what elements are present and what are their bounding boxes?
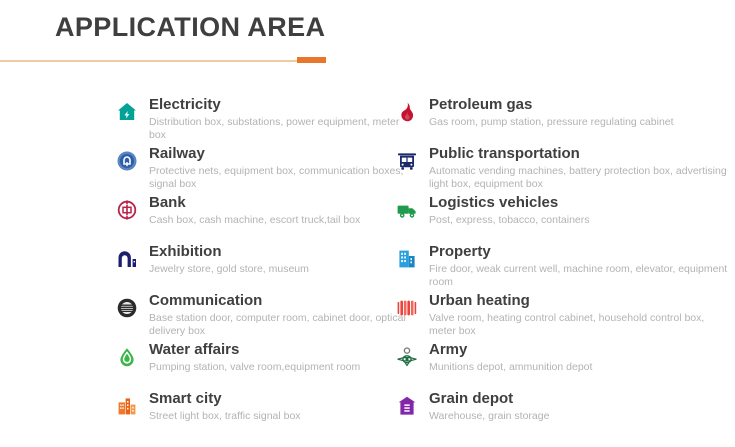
list-item-title: Property [429,243,729,260]
list-item-bank[interactable]: Bank Cash box, cash machine, escort truc… [116,194,406,243]
delivery-truck-icon [396,199,418,221]
list-item-description: Valve room, heating control cabinet, hou… [429,312,729,338]
list-item-title: Grain depot [429,390,729,407]
list-item-description: Post, express, tobacco, containers [429,214,729,227]
list-item-title: Army [429,341,729,358]
title-divider-accent [297,57,326,63]
application-area-grid: Electricity Distribution box, substation… [0,96,735,447]
title-divider-line [0,60,326,62]
list-item-smart-city[interactable]: Smart city Street light box, traffic sig… [116,390,406,439]
list-item-title: Bank [149,194,399,211]
exhibition-arch-icon [116,248,138,270]
house-lightning-icon [116,101,138,123]
list-item-title: Urban heating [429,292,729,309]
list-item-army[interactable]: Army Munitions depot, ammunition depot [396,341,735,390]
list-item-title: Petroleum gas [429,96,729,113]
list-item-title: Communication [149,292,399,309]
list-item-petroleum-gas[interactable]: Petroleum gas Gas room, pump station, pr… [396,96,735,145]
list-item-description: Distribution box, substations, power equ… [149,116,409,142]
list-item-public-transportation[interactable]: Public transportation Automatic vending … [396,145,735,194]
list-item-description: Munitions depot, ammunition depot [429,361,729,374]
list-item-title: Public transportation [429,145,729,162]
list-item-title: Smart city [149,390,399,407]
list-item-grain-depot[interactable]: Grain depot Warehouse, grain storage [396,390,735,439]
list-item-title: Railway [149,145,399,162]
bus-icon [396,150,418,172]
list-item-description: Street light box, traffic signal box [149,410,409,423]
list-item-description: Warehouse, grain storage [429,410,729,423]
water-drop-icon [116,346,138,368]
office-building-icon [396,248,418,270]
army-emblem-icon [396,346,418,368]
communication-dish-icon [116,297,138,319]
list-item-description: Jewelry store, gold store, museum [149,263,409,276]
list-item-title: Electricity [149,96,399,113]
radiator-icon [396,297,418,319]
railway-circle-icon [116,150,138,172]
list-item-description: Fire door, weak current well, machine ro… [429,263,729,289]
list-item-water-affairs[interactable]: Water affairs Pumping station, valve roo… [116,341,406,390]
list-item-title: Logistics vehicles [429,194,729,211]
list-item-description: Gas room, pump station, pressure regulat… [429,116,729,129]
smart-city-buildings-icon [116,395,138,417]
list-item-description: Protective nets, equipment box, communic… [149,165,409,191]
list-item-electricity[interactable]: Electricity Distribution box, substation… [116,96,406,145]
flame-icon [396,101,418,123]
list-item-railway[interactable]: Railway Protective nets, equipment box, … [116,145,406,194]
page-title: APPLICATION AREA [55,12,325,43]
grain-silo-icon [396,395,418,417]
list-item-description: Pumping station, valve room,equipment ro… [149,361,409,374]
list-item-exhibition[interactable]: Exhibition Jewelry store, gold store, mu… [116,243,406,292]
list-item-description: Base station door, computer room, cabine… [149,312,409,338]
list-item-title: Exhibition [149,243,399,260]
list-item-description: Cash box, cash machine, escort truck,tai… [149,214,409,227]
list-item-urban-heating[interactable]: Urban heating Valve room, heating contro… [396,292,735,341]
list-item-property[interactable]: Property Fire door, weak current well, m… [396,243,735,292]
list-item-logistics-vehicles[interactable]: Logistics vehicles Post, express, tobacc… [396,194,735,243]
list-item-description: Automatic vending machines, battery prot… [429,165,729,191]
bank-coin-icon [116,199,138,221]
list-item-title: Water affairs [149,341,399,358]
list-item-communication[interactable]: Communication Base station door, compute… [116,292,406,341]
